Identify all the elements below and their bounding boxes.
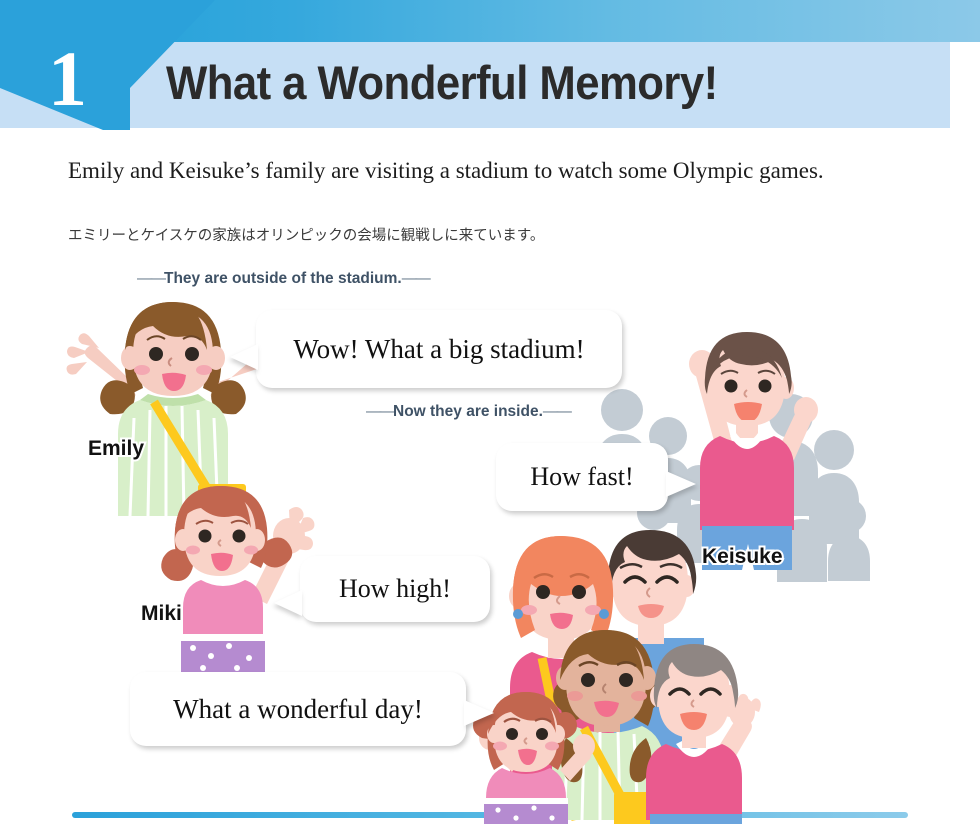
bubble-tail-icon: [666, 471, 696, 497]
caption-outside-stadium: ——They are outside of the stadium.——: [137, 270, 429, 288]
bubble-tail-icon: [464, 700, 494, 726]
caption-inside-stadium: ——Now they are inside.——: [366, 403, 570, 421]
caption-outside-text: They are outside of the stadium.: [164, 270, 402, 287]
family-group: [480, 530, 750, 820]
caption-dash-left: ——: [366, 403, 393, 420]
speech-bubble-high: How high!: [300, 556, 490, 622]
caption-dash-right: ——: [543, 403, 570, 420]
mother-earring-icon: [513, 609, 523, 619]
intro-text-english: Emily and Keisuke’s family are visiting …: [68, 152, 888, 189]
caption-inside-text: Now they are inside.: [393, 403, 543, 420]
character-emily: [68, 296, 278, 516]
speech-bubble-fast-text: How fast!: [530, 462, 633, 492]
mother-earring-icon: [599, 609, 609, 619]
keisuke-neck-icon: [736, 420, 758, 438]
keisuke-shirt-icon: [700, 433, 794, 530]
speech-bubble-high-text: How high!: [339, 574, 451, 604]
bubble-tail-icon: [230, 344, 258, 370]
page-title: What a Wonderful Memory!: [166, 52, 718, 114]
name-label-emily: Emily: [88, 437, 144, 461]
speech-bubble-wow: Wow! What a big stadium!: [256, 310, 622, 388]
caption-dash-right: ——: [402, 270, 429, 287]
intro-text-japanese: エミリーとケイスケの家族はオリンピックの会場に観戦しに来ています。: [68, 225, 888, 247]
miki-skirt-icon: [181, 634, 265, 674]
name-label-keisuke: Keisuke: [702, 545, 783, 569]
name-label-miki: Miki: [141, 602, 182, 626]
speech-bubble-wow-text: Wow! What a big stadium!: [293, 334, 584, 365]
speech-bubble-day: What a wonderful day!: [130, 672, 466, 746]
speech-bubble-day-text: What a wonderful day!: [173, 694, 423, 725]
keisuke-small-pants-icon: [650, 814, 742, 824]
lesson-number: 1: [32, 38, 102, 120]
miki-small-skirt-icon: [484, 798, 568, 824]
speech-bubble-fast: How fast!: [496, 443, 668, 511]
miki-shirt-icon: [183, 580, 263, 642]
page-header: 1 What a Wonderful Memory!: [0, 0, 980, 134]
caption-dash-left: ——: [137, 270, 164, 287]
bubble-tail-icon: [274, 590, 302, 616]
